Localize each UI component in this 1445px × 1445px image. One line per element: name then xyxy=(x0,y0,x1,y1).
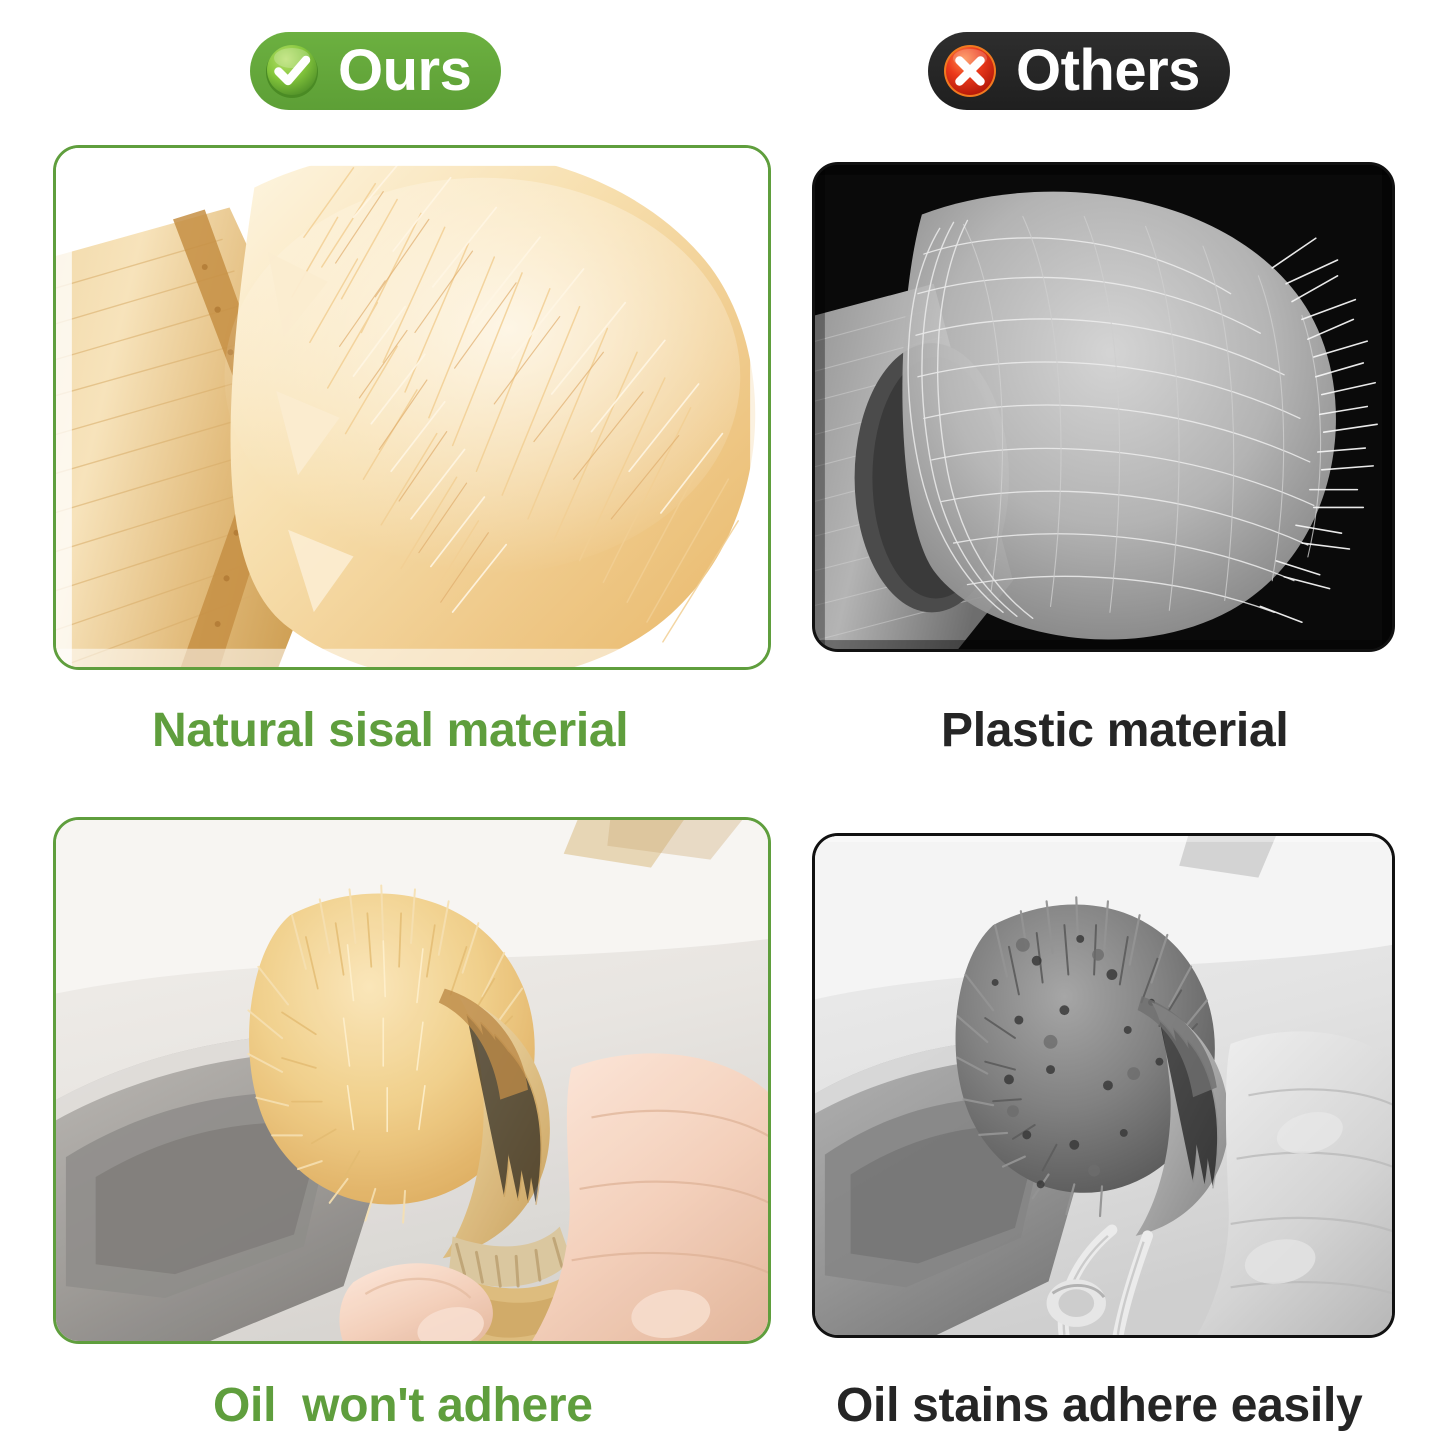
others-badge: Others xyxy=(928,32,1230,110)
panel-bottom-left-ours xyxy=(53,817,771,1344)
x-circle-icon xyxy=(940,41,1000,101)
caption-top-right: Plastic material xyxy=(941,707,1288,755)
clean-brush-in-hand-image xyxy=(56,820,768,1343)
caption-bottom-left: Oil won't adhere xyxy=(213,1382,593,1430)
others-badge-label: Others xyxy=(1016,42,1200,100)
panel-top-left-ours xyxy=(53,145,771,670)
caption-top-left: Natural sisal material xyxy=(152,707,628,755)
check-circle-icon xyxy=(262,41,322,101)
caption-bottom-right: Oil stains adhere easily xyxy=(836,1382,1362,1430)
comparison-header: Ours Others xyxy=(0,0,1445,140)
sisal-bristle-closeup-image xyxy=(56,148,768,669)
dirty-brush-in-hand-image xyxy=(815,836,1392,1336)
ours-badge-label: Ours xyxy=(338,42,471,100)
panel-bottom-right-others xyxy=(812,833,1395,1338)
panel-top-right-others xyxy=(812,162,1395,652)
ours-badge: Ours xyxy=(250,32,501,110)
plastic-bristle-closeup-image xyxy=(815,165,1392,650)
